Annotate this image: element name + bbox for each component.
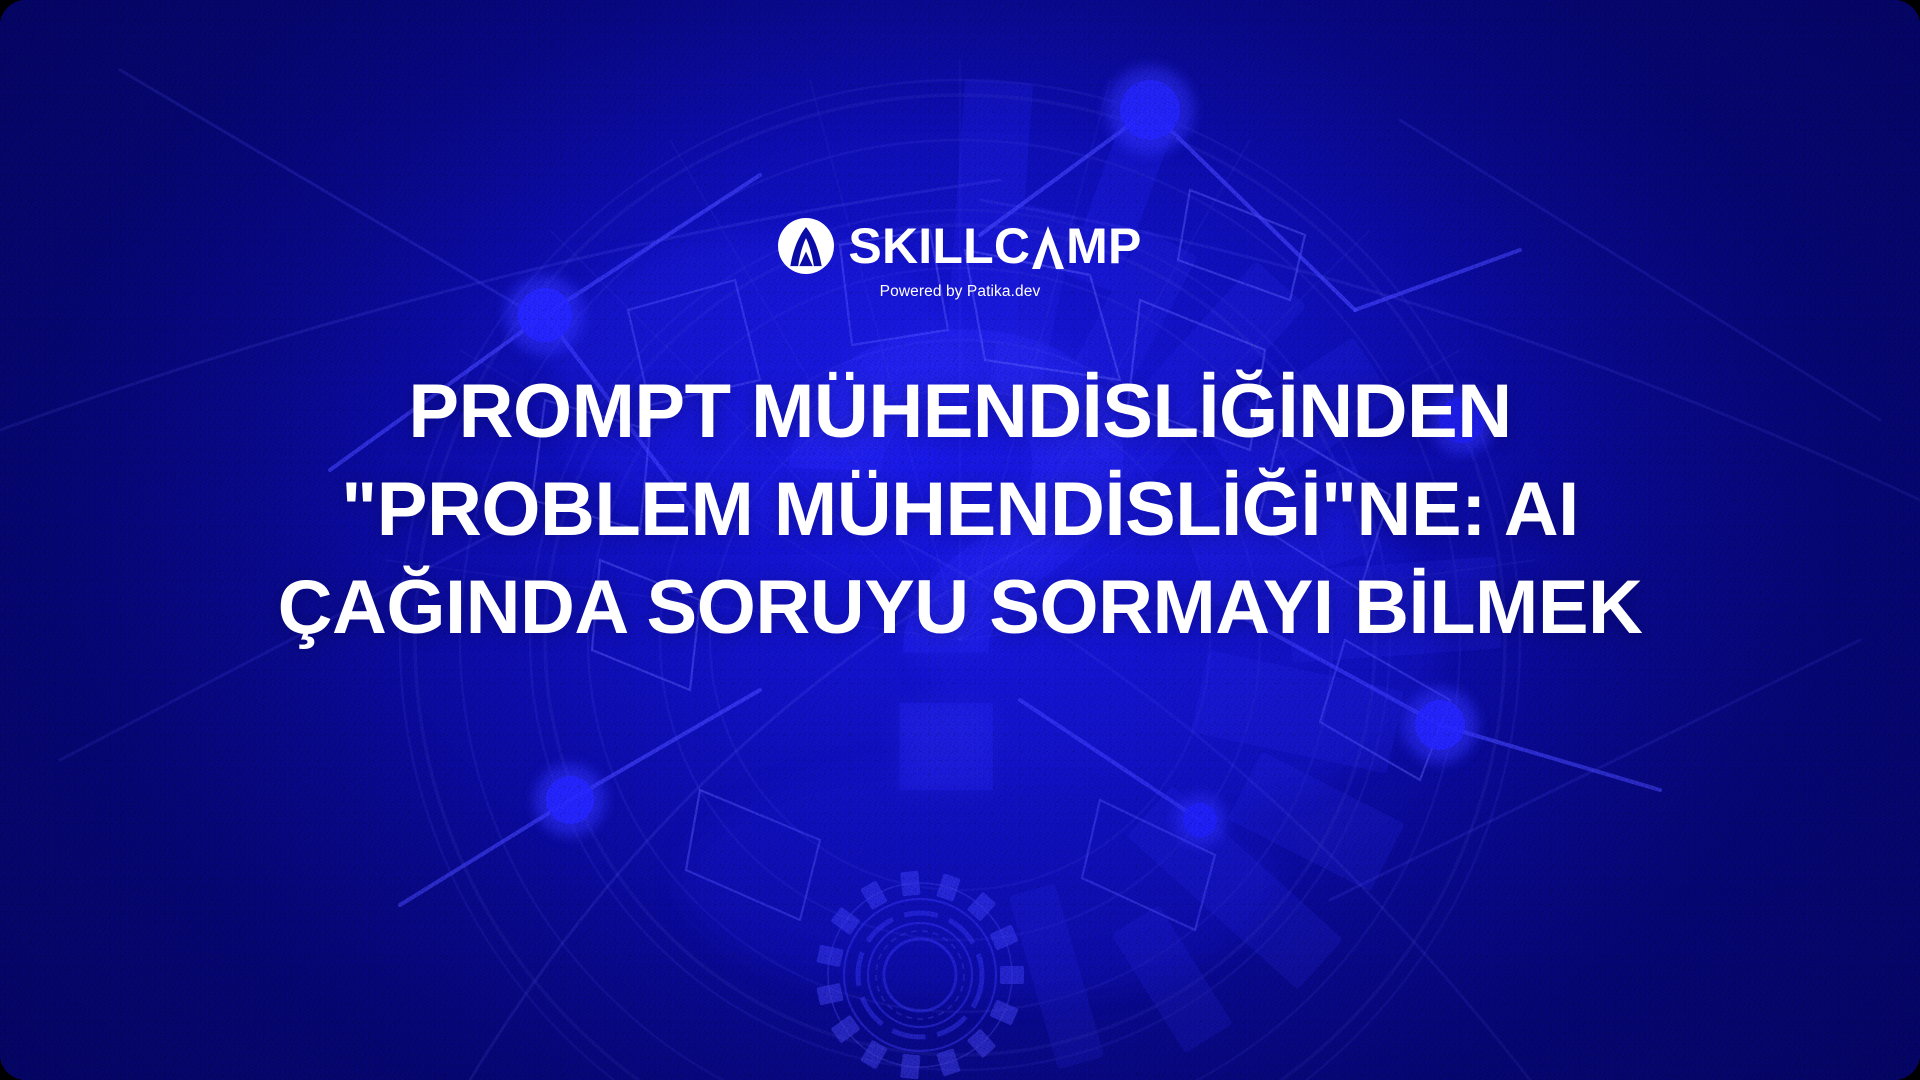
logo-lambda-a-icon: [1031, 221, 1065, 271]
logo-word-c: C: [994, 221, 1030, 271]
headline-line-1: PROMPT MÜHENDİSLİĞİNDEN: [110, 363, 1810, 461]
page-title: PROMPT MÜHENDİSLİĞİNDEN "PROBLEM MÜHENDİ…: [110, 363, 1810, 657]
headline-line-2: "PROBLEM MÜHENDİSLİĞİ"NE: AI: [110, 461, 1810, 559]
skillcamp-peak-icon: [778, 218, 834, 274]
promo-banner: ? ?: [0, 0, 1920, 1080]
banner-content: SKILLC MP Powered by Patika.dev PROMPT M…: [0, 0, 1920, 1080]
logo-word-skill: SKILL: [848, 221, 993, 271]
logo-tagline: Powered by Patika.dev: [880, 283, 1041, 301]
logo-word-mp: MP: [1066, 221, 1141, 271]
headline-line-3: ÇAĞINDA SORUYU SORMAYI BİLMEK: [110, 559, 1810, 657]
brand-logo: SKILLC MP Powered by Patika.dev: [778, 218, 1141, 301]
logo-row: SKILLC MP: [778, 218, 1141, 274]
logo-wordmark: SKILLC MP: [848, 221, 1141, 271]
